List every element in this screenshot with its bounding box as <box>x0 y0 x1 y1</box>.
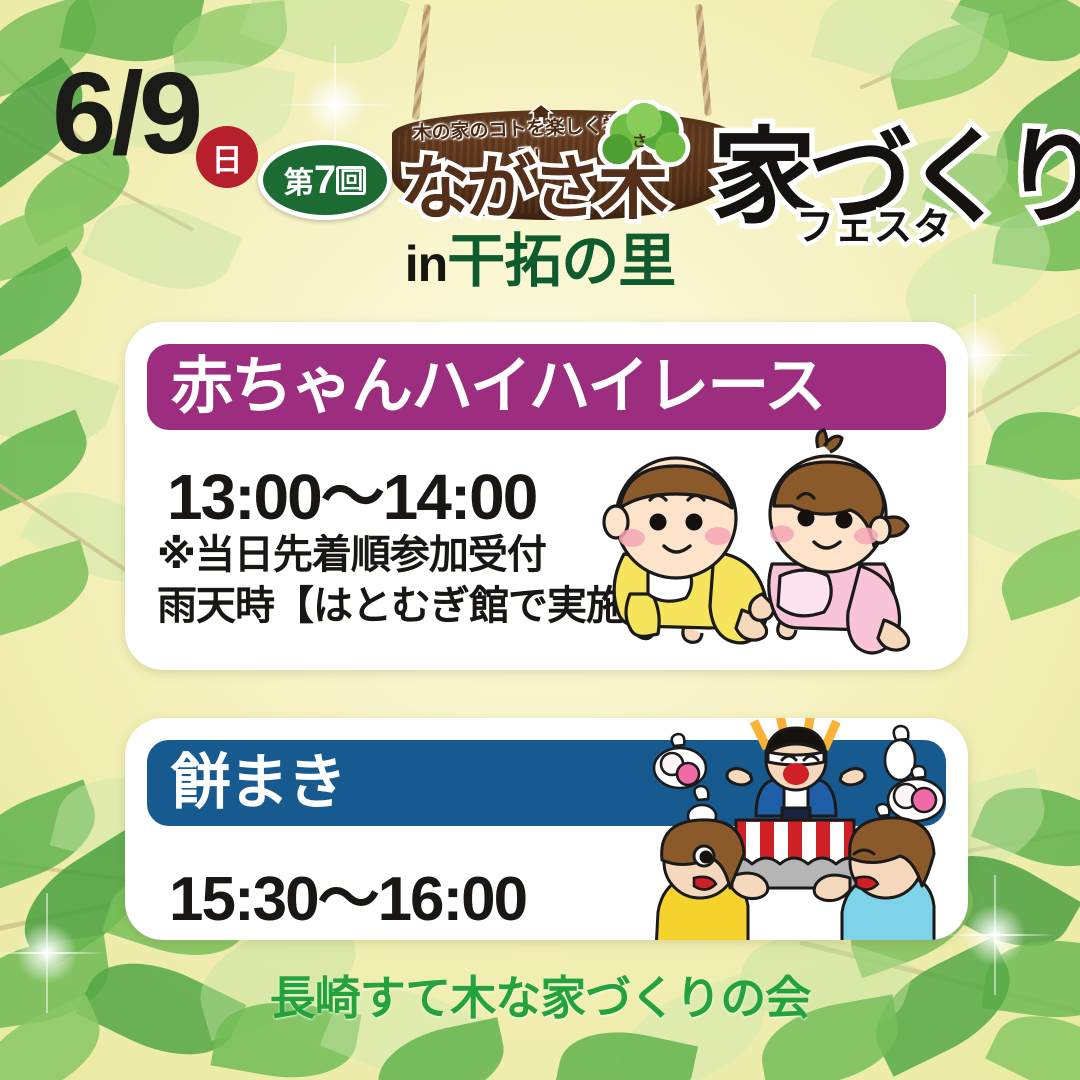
mochi-throwing-illustration <box>628 718 958 940</box>
event-time-mochi: 15:30〜16:00 <box>169 848 526 938</box>
edition-prefix: 第 <box>284 158 313 202</box>
rope-left <box>412 4 431 120</box>
logo-festa-text: フェスタ <box>796 196 952 251</box>
day-of-week-badge: 日 <box>196 126 258 188</box>
crawling-babies-illustration <box>566 426 956 656</box>
venue-prefix: in <box>405 236 447 292</box>
event-card-mochi-throwing: 餅まき 15:30〜16:00 <box>125 718 968 940</box>
rope-right <box>695 4 712 116</box>
edition-suffix: 回 <box>336 166 366 195</box>
organizer-name: 長崎すて木な家づくりの会 <box>0 962 1080 1028</box>
event-title-baby: 赤ちゃんハイハイレース <box>171 356 824 418</box>
event-poster: 6/9 日 第 7 回 木の家のコトを楽しく学べる! ながさ木 ながさ木 <box>0 0 1080 1080</box>
event-date: 6/9 <box>52 62 198 164</box>
poster-header: 6/9 日 第 7 回 木の家のコトを楽しく学べる! ながさ木 ながさ木 <box>0 48 1080 218</box>
event-title-mochi: 餅まき <box>171 753 345 813</box>
venue-name: 干拓の里 <box>447 229 675 294</box>
tree-icon <box>596 100 692 204</box>
event-title-ribbon-baby: 赤ちゃんハイハイレース <box>147 344 946 430</box>
edition-number: 7 <box>314 158 335 203</box>
event-card-baby-race: 赤ちゃんハイハイレース 13:00〜14:00 ※当日先着順参加受付 雨天時【は… <box>125 322 968 670</box>
logo-furigana: さ <box>632 130 647 151</box>
edition-badge: 第 7 回 <box>258 140 392 220</box>
date-text: 6/9 <box>52 62 198 164</box>
event-time-baby: 13:00〜14:00 <box>167 446 536 538</box>
